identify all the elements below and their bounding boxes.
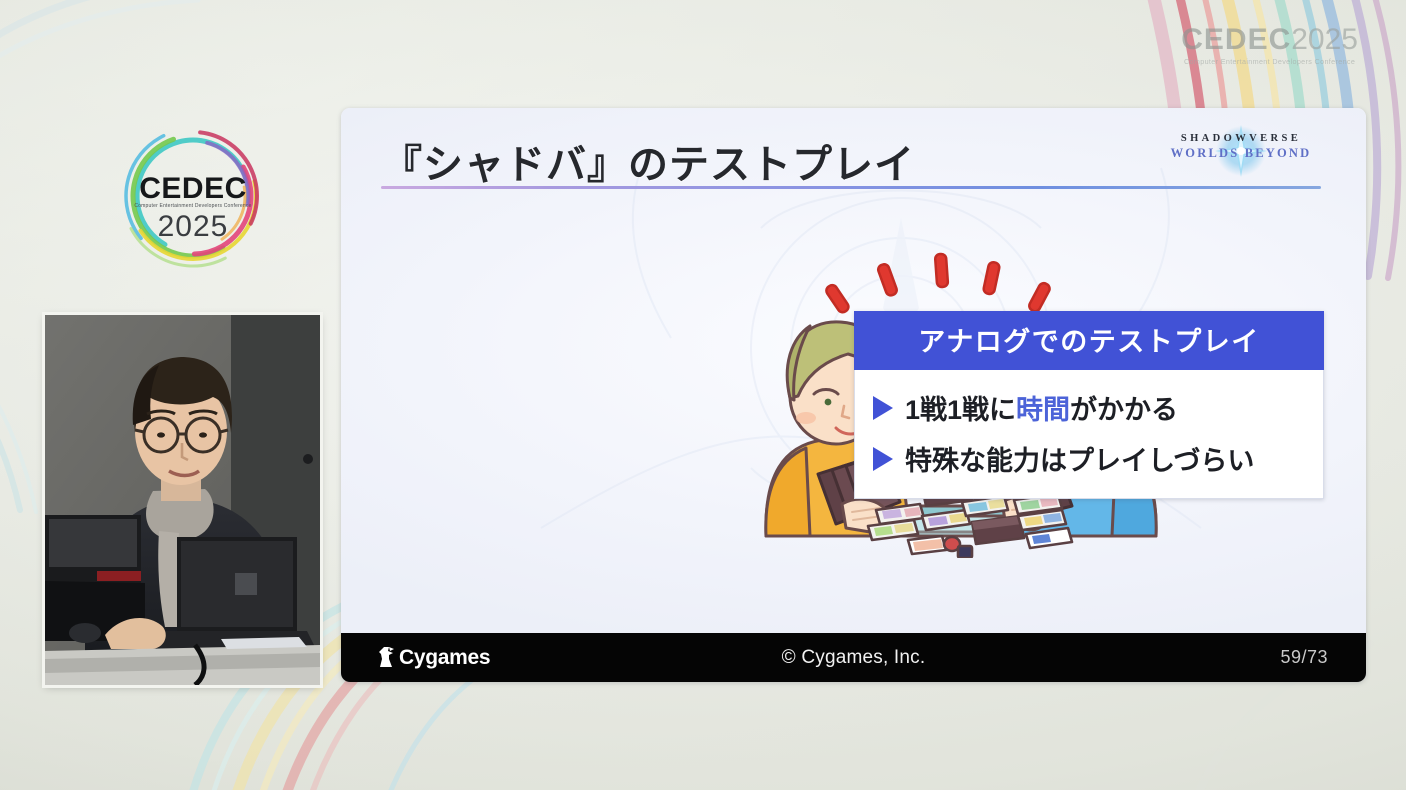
speaker-camera-feed (45, 315, 320, 685)
callout-item-2-text: 特殊な能力はプレイしづらい (905, 439, 1254, 478)
callout-item-2-pre: 特殊な能力はプレイしづらい (905, 446, 1254, 476)
shadowverse-worlds-beyond-logo: SHADOWVERSE WORLDS BEYOND (1161, 125, 1321, 177)
triangle-bullet-icon (873, 447, 893, 471)
callout-item-2: 特殊な能力はプレイしづらい (855, 433, 1323, 484)
svg-text:2025: 2025 (158, 210, 229, 243)
shadowverse-logo-line1: SHADOWVERSE (1161, 133, 1321, 144)
callout-item-1-pre: 1戦1戦に (905, 395, 1016, 425)
cedec-circular-logo: CEDEC Computer Entertainment Developers … (113, 122, 273, 270)
triangle-bullet-icon (873, 396, 893, 420)
slide-body: 『シャドバ』のテストプレイ S (341, 108, 1366, 633)
title-underline (381, 186, 1321, 189)
presentation-slide: 『シャドバ』のテストプレイ S (341, 108, 1366, 682)
callout-item-1-post: がかかる (1070, 395, 1178, 425)
svg-text:CEDEC: CEDEC (139, 172, 247, 205)
callout-item-1-text: 1戦1戦に時間がかかる (905, 388, 1178, 427)
callout-box: アナログでのテストプレイ 1戦1戦に時間がかかる 特殊な能力はプレイしづらい (854, 311, 1324, 499)
cedec-wordmark-year: 2025 (1291, 23, 1358, 56)
page-number: 59/73 (1280, 647, 1328, 668)
cedec-wordmark-main: CEDEC (1181, 23, 1291, 56)
screen-stage: CEDEC Computer Entertainment Developers … (0, 0, 1406, 790)
slide-footer: Cygames © Cygames, Inc. 59/73 (341, 633, 1366, 682)
slide-title: 『シャドバ』のテストプレイ (382, 132, 915, 190)
callout-item-1-highlight: 時間 (1016, 395, 1070, 425)
cedec-wordmark-subtitle: Computer Entertainment Developers Confer… (1181, 57, 1358, 66)
svg-text:Computer Entertainment Develop: Computer Entertainment Developers Confer… (134, 203, 251, 209)
callout-header: アナログでのテストプレイ (854, 311, 1324, 370)
cedec-wordmark: CEDEC2025 Computer Entertainment Develop… (1181, 25, 1358, 66)
callout-body: 1戦1戦に時間がかかる 特殊な能力はプレイしづらい (854, 370, 1324, 499)
callout-item-1: 1戦1戦に時間がかかる (855, 382, 1323, 433)
shadowverse-logo-line2: WORLDS BEYOND (1161, 146, 1321, 161)
copyright-text: © Cygames, Inc. (341, 647, 1366, 669)
